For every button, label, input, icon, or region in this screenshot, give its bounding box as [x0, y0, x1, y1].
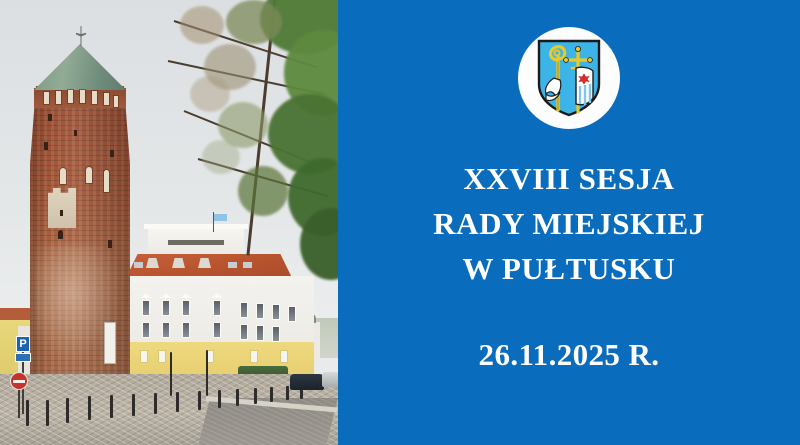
bollard	[154, 393, 157, 414]
bollard	[176, 392, 179, 412]
session-date: 26.11.2025 R.	[338, 337, 800, 373]
roof-skylight	[243, 262, 252, 268]
roof-skylight	[134, 262, 143, 268]
roof-skylight	[228, 262, 237, 268]
facade-window	[272, 326, 280, 342]
bollard	[254, 388, 257, 404]
facade-window	[182, 300, 190, 316]
lamp-post	[206, 350, 208, 396]
ground-floor-window	[140, 350, 148, 363]
tower-window	[86, 167, 92, 183]
parked-car	[322, 372, 338, 387]
ground-floor-window	[250, 350, 258, 363]
facade-window	[240, 302, 248, 318]
tower-arrow-slit	[44, 142, 48, 150]
facade-window	[142, 300, 150, 316]
tower-window	[80, 90, 85, 103]
blue-text-panel: XXVIII SESJA RADY MIEJSKIEJ W PUŁTUSKU 2…	[338, 0, 800, 445]
light-blue-flag	[214, 214, 227, 221]
bollard	[26, 400, 29, 426]
town-hall-cornice	[144, 224, 248, 229]
facade-window	[256, 303, 264, 319]
facade-window	[142, 322, 150, 338]
heading-line-1: XXVIII SESJA	[338, 156, 800, 201]
tower-arrow-slit	[74, 130, 77, 136]
tower-arrow-slit	[110, 150, 114, 157]
bollard	[110, 395, 113, 418]
bollard	[286, 386, 289, 400]
heading-line-2: RADY MIEJSKIEJ	[338, 201, 800, 246]
bollard	[88, 396, 91, 420]
tower-arrow-slit	[48, 114, 52, 121]
facade-window	[256, 325, 264, 341]
lamp-post	[170, 352, 172, 396]
tower-window	[44, 92, 49, 104]
ground-floor-window	[280, 350, 288, 363]
bollard	[218, 390, 221, 408]
tower-window	[56, 91, 61, 104]
pultusk-coat-of-arms-icon	[536, 38, 602, 118]
session-heading: XXVIII SESJA RADY MIEJSKIEJ W PUŁTUSKU	[338, 156, 800, 291]
parking-sign-icon: P	[16, 336, 30, 352]
pultusk-town-hall-photo: P	[0, 0, 338, 445]
facade-window	[240, 324, 248, 340]
parking-sign-plate	[15, 353, 31, 362]
facade-window	[162, 300, 170, 316]
facade-window	[288, 306, 296, 322]
bollard	[46, 400, 49, 426]
tower-window	[92, 91, 97, 104]
tower-window	[60, 168, 66, 184]
bollard	[198, 391, 201, 410]
sign-post	[18, 388, 20, 418]
facade-window	[182, 322, 190, 338]
tower-arrow-slit	[108, 240, 112, 248]
no-entry-sign-icon	[10, 372, 28, 390]
facade-window	[213, 300, 221, 316]
tower-entrance-door	[104, 322, 116, 364]
facade-window	[162, 322, 170, 338]
bollard	[270, 387, 273, 402]
tower-window	[104, 170, 109, 192]
tower-window	[114, 96, 118, 107]
bollard	[236, 389, 239, 406]
heading-line-3: W PUŁTUSKU	[338, 246, 800, 291]
facade-window	[213, 322, 221, 338]
tower-arrow-slit	[58, 230, 63, 239]
bollard	[66, 398, 69, 423]
session-announcement-slide: P	[0, 0, 800, 445]
ground-floor-window	[158, 350, 166, 363]
bollard	[132, 394, 135, 416]
facade-window	[272, 304, 280, 320]
tower-window	[68, 90, 73, 103]
tower-arrow-slit	[60, 210, 63, 216]
parked-car	[290, 374, 324, 390]
tower-plaster-panel	[48, 188, 76, 228]
tower-window	[104, 93, 109, 105]
